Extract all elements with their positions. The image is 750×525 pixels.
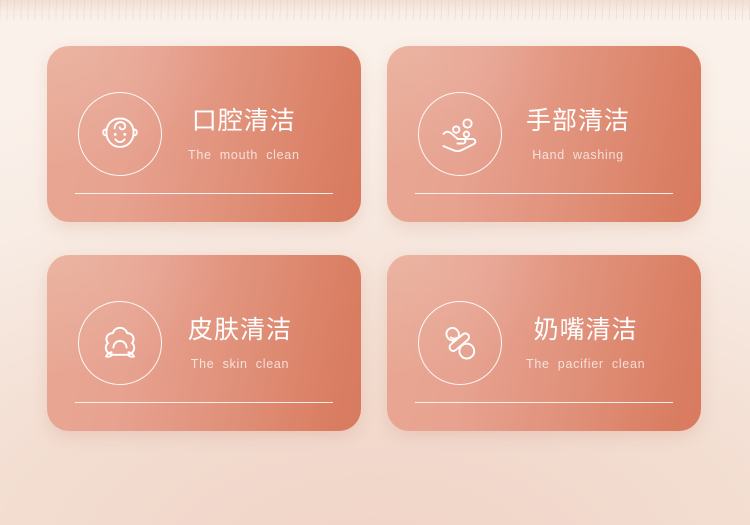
page-background: 口腔清洁 The mouth clean [0, 0, 750, 525]
card-title-en: The mouth clean [188, 148, 300, 162]
hand-washing-icon [436, 110, 484, 158]
card-text-block: 皮肤清洁 The skin clean [188, 315, 292, 371]
card-divider-rule [415, 193, 673, 194]
card-title-cn: 皮肤清洁 [188, 315, 292, 346]
card-title-en: The skin clean [191, 357, 289, 371]
icon-circle-skin-clean [78, 301, 162, 385]
card-divider-rule [75, 402, 333, 403]
card-text-block: 手部清洁 Hand washing [526, 106, 630, 162]
card-divider-rule [415, 402, 673, 403]
feature-card-hand-washing[interactable]: 手部清洁 Hand washing [387, 46, 701, 222]
card-title-en: Hand washing [532, 148, 624, 162]
icon-circle-hand-washing [418, 92, 502, 176]
card-title-en: The pacifier clean [526, 357, 645, 371]
feature-card-mouth-clean[interactable]: 口腔清洁 The mouth clean [47, 46, 361, 222]
cotton-ball-icon [96, 319, 144, 367]
card-title-cn: 手部清洁 [526, 106, 630, 137]
feature-card-grid: 口腔清洁 The mouth clean [47, 46, 701, 431]
card-title-cn: 口腔清洁 [192, 106, 296, 137]
fabric-texture-band [0, 0, 750, 20]
pacifier-icon [436, 319, 484, 367]
feature-card-skin-clean[interactable]: 皮肤清洁 The skin clean [47, 255, 361, 431]
baby-face-icon [96, 110, 144, 158]
icon-circle-pacifier-clean [418, 301, 502, 385]
card-divider-rule [75, 193, 333, 194]
feature-card-pacifier-clean[interactable]: 奶嘴清洁 The pacifier clean [387, 255, 701, 431]
icon-circle-mouth-clean [78, 92, 162, 176]
card-text-block: 奶嘴清洁 The pacifier clean [526, 315, 645, 371]
card-title-cn: 奶嘴清洁 [534, 315, 638, 346]
card-text-block: 口腔清洁 The mouth clean [188, 106, 300, 162]
